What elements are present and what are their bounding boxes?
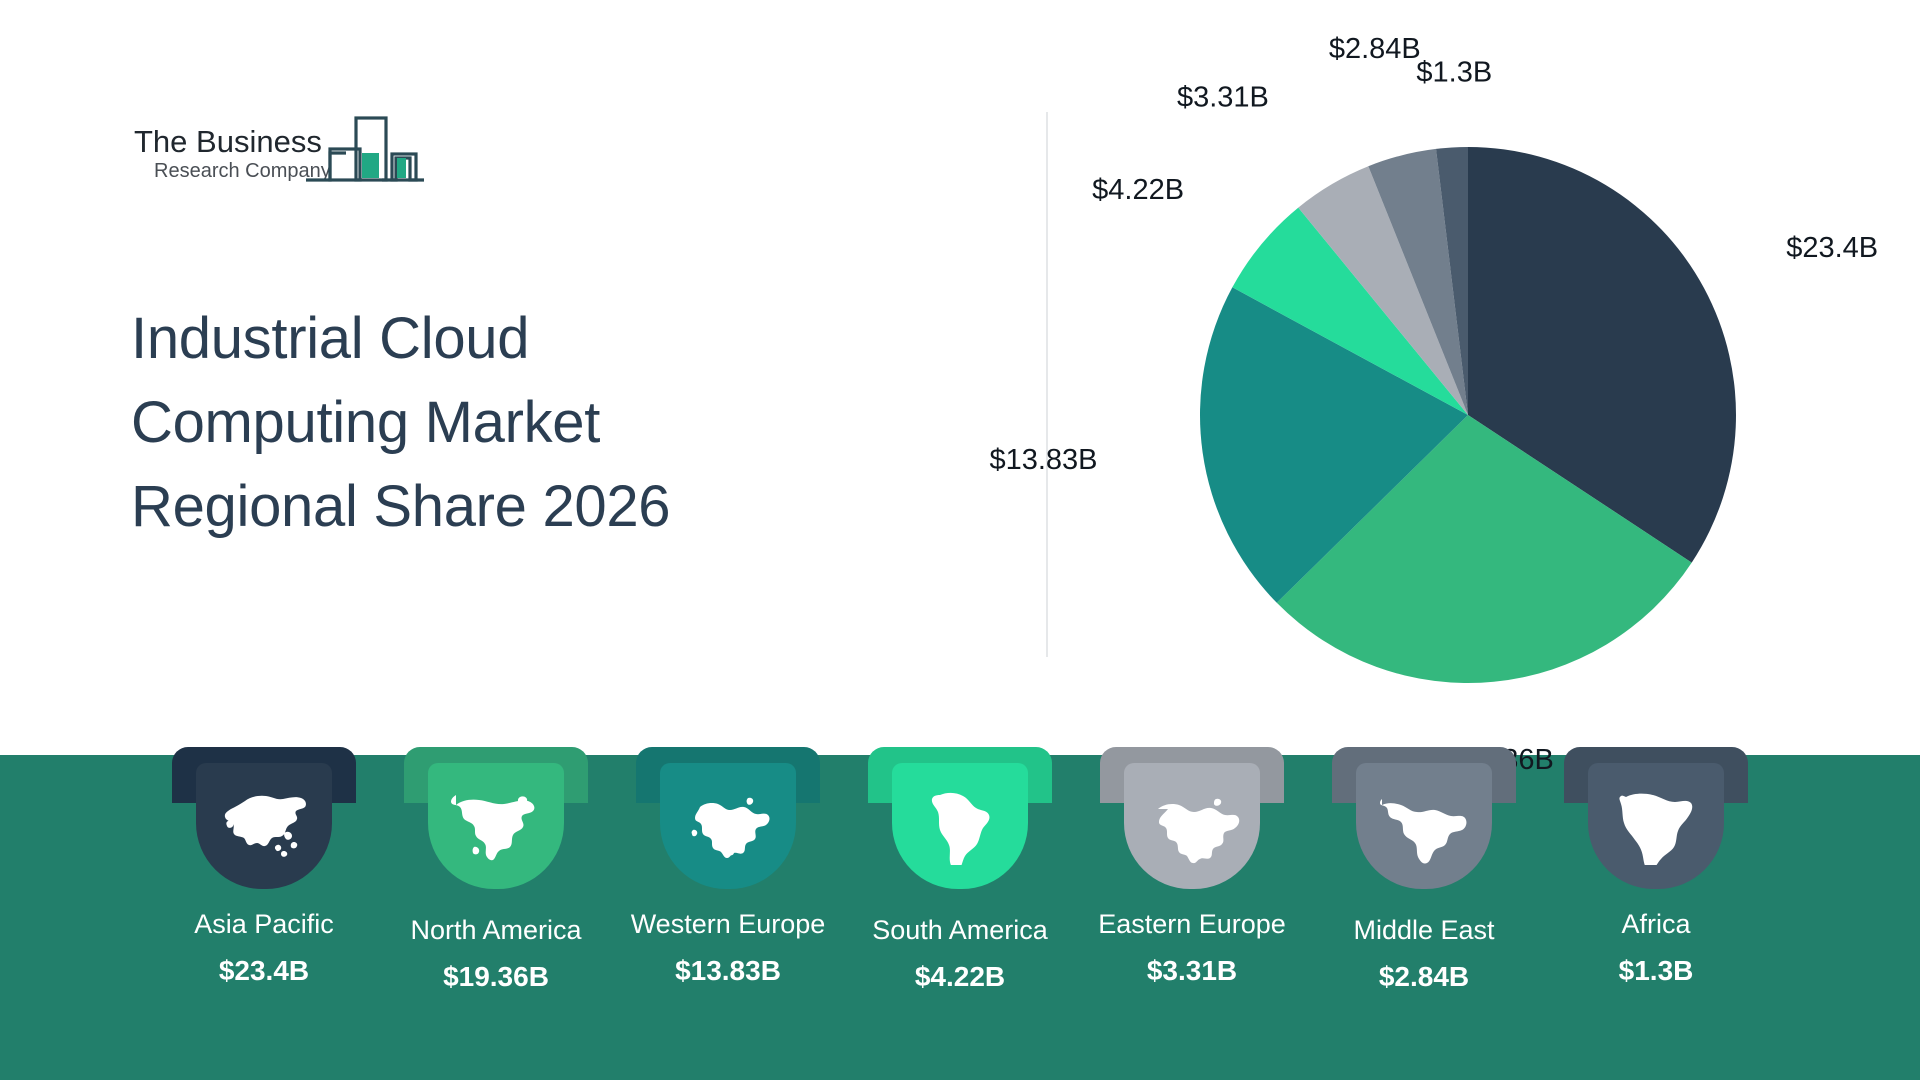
region-name-asia-pacific: Asia Pacific [194,911,334,938]
region-value-western-europe: $13.83B [675,957,781,985]
region-card-asia-pacific[interactable]: Asia Pacific$23.4B [148,735,380,1080]
pie-label-middle-east: $2.84B [1329,33,1421,65]
region-card-africa[interactable]: Africa$1.3B [1540,735,1772,1080]
emblem-shield [892,763,1028,889]
region-name-eastern-europe: Eastern Europe [1098,911,1286,938]
region-emblem-western-europe [636,747,820,889]
emblem-shield [1588,763,1724,889]
company-logo: The Business Research Company [134,108,424,194]
region-name-south-america: South America [872,917,1048,944]
region-name-africa: Africa [1621,911,1690,938]
title-line-2: Computing Market [131,381,891,465]
region-card-western-europe[interactable]: Western Europe$13.83B [612,735,844,1080]
pie-label-western-europe: $13.83B [989,444,1097,476]
region-value-africa: $1.3B [1619,957,1694,985]
region-value-eastern-europe: $3.31B [1147,957,1237,985]
pie-slice-group [1200,147,1736,683]
region-emblem-africa [1564,747,1748,889]
vertical-divider [1046,112,1048,657]
region-card-middle-east[interactable]: Middle East$2.84B [1308,735,1540,1080]
pie-label-south-america: $4.22B [1092,174,1184,206]
middle-east-map-icon [1374,787,1474,865]
pie-label-asia-pacific: $23.4B [1786,232,1878,264]
logo-wordmark: The Business Research Company [134,124,331,182]
region-card-south-america[interactable]: South America$4.22B [844,735,1076,1080]
region-emblem-asia-pacific [172,747,356,889]
title-line-1: Industrial Cloud [131,297,891,381]
logo-line2: Research Company [154,160,331,182]
emblem-shield [196,763,332,889]
page-title: Industrial Cloud Computing Market Region… [131,297,891,549]
infographic-canvas: The Business Research Company Industrial… [0,0,1920,1080]
region-emblem-south-america [868,747,1052,889]
region-card-north-america[interactable]: North America$19.36B [380,735,612,1080]
asia-pacific-map-icon [214,787,314,865]
region-emblem-eastern-europe [1100,747,1284,889]
region-emblem-middle-east [1332,747,1516,889]
africa-map-icon [1606,787,1706,865]
emblem-shield [428,763,564,889]
emblem-shield [1356,763,1492,889]
emblem-shield [660,763,796,889]
region-value-asia-pacific: $23.4B [219,957,309,985]
emblem-shield [1124,763,1260,889]
western-europe-map-icon [678,787,778,865]
region-name-north-america: North America [410,917,581,944]
region-name-middle-east: Middle East [1353,917,1494,944]
region-value-north-america: $19.36B [443,963,549,991]
eastern-europe-map-icon [1142,787,1242,865]
region-card-row: Asia Pacific$23.4BNorth America$19.36BWe… [0,735,1920,1080]
south-america-map-icon [910,787,1010,865]
region-card-eastern-europe[interactable]: Eastern Europe$3.31B [1076,735,1308,1080]
logo-line1: The Business [134,124,322,159]
regional-share-pie-chart: $23.4B$19.36B$13.83B$4.22B$3.31B$2.84B$1… [1060,55,1900,715]
region-value-middle-east: $2.84B [1379,963,1469,991]
title-line-3: Regional Share 2026 [131,465,891,549]
pie-label-africa: $1.3B [1416,56,1492,88]
pie-label-eastern-europe: $3.31B [1177,82,1269,114]
region-name-western-europe: Western Europe [631,911,826,938]
region-value-south-america: $4.22B [915,963,1005,991]
region-emblem-north-america [404,747,588,889]
north-america-map-icon [446,787,546,865]
